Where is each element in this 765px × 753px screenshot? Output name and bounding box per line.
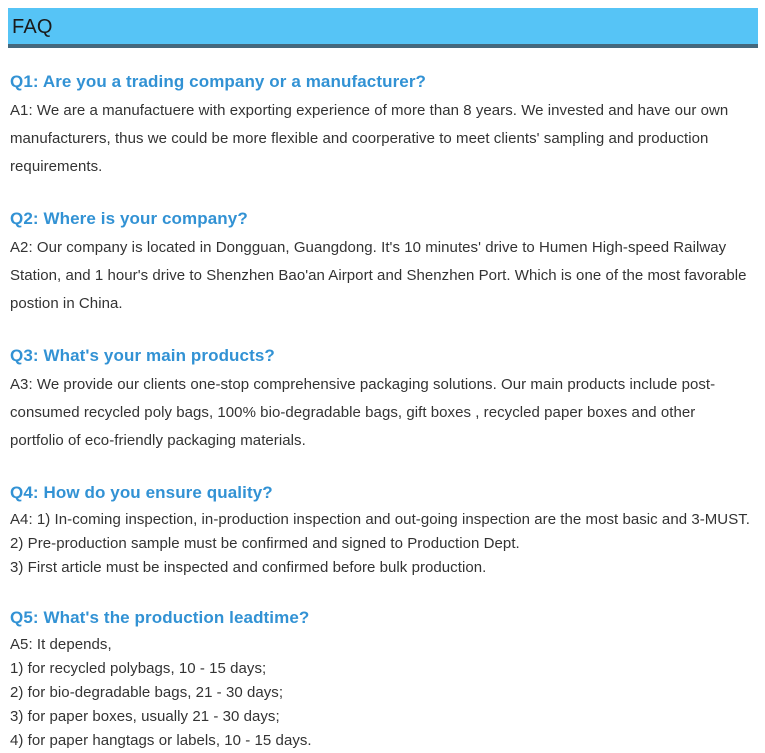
faq-page: FAQ Q1: Are you a trading company or a m…	[0, 0, 765, 748]
faq-answer-line: 2) for bio-degradable bags, 21 - 30 days…	[10, 681, 752, 705]
faq-question: Q4: How do you ensure quality?	[10, 481, 752, 505]
faq-item: Q5: What's the production leadtime? A5: …	[10, 606, 752, 753]
faq-question: Q2: Where is your company?	[10, 207, 752, 231]
faq-question: Q1: Are you a trading company or a manuf…	[10, 70, 752, 94]
faq-item: Q2: Where is your company? A2: Our compa…	[10, 207, 752, 318]
faq-answer-line: A4: 1) In-coming inspection, in-producti…	[10, 508, 752, 532]
faq-item: Q3: What's your main products? A3: We pr…	[10, 344, 752, 455]
faq-answer-line: 2) Pre-production sample must be confirm…	[10, 532, 752, 556]
faq-answer-lines: A5: It depends,1) for recycled polybags,…	[10, 633, 752, 753]
page-title: FAQ	[12, 14, 53, 40]
faq-item: Q4: How do you ensure quality? A4: 1) In…	[10, 481, 752, 580]
faq-answer-line: 3) First article must be inspected and c…	[10, 556, 752, 580]
faq-answer-line: 3) for paper boxes, usually 21 - 30 days…	[10, 705, 752, 729]
faq-answer-line: A5: It depends,	[10, 633, 752, 657]
faq-list: Q1: Are you a trading company or a manuf…	[10, 70, 752, 753]
faq-question: Q3: What's your main products?	[10, 344, 752, 368]
faq-header-bar: FAQ	[8, 8, 758, 48]
faq-answer: A3: We provide our clients one-stop comp…	[10, 371, 752, 455]
faq-question: Q5: What's the production leadtime?	[10, 606, 752, 630]
faq-answer-line: 1) for recycled polybags, 10 - 15 days;	[10, 657, 752, 681]
faq-answer-lines: A4: 1) In-coming inspection, in-producti…	[10, 508, 752, 580]
faq-answer: A2: Our company is located in Dongguan, …	[10, 234, 752, 318]
faq-answer: A1: We are a manufactuere with exporting…	[10, 97, 752, 181]
faq-item: Q1: Are you a trading company or a manuf…	[10, 70, 752, 181]
faq-answer-line: 4) for paper hangtags or labels, 10 - 15…	[10, 729, 752, 753]
